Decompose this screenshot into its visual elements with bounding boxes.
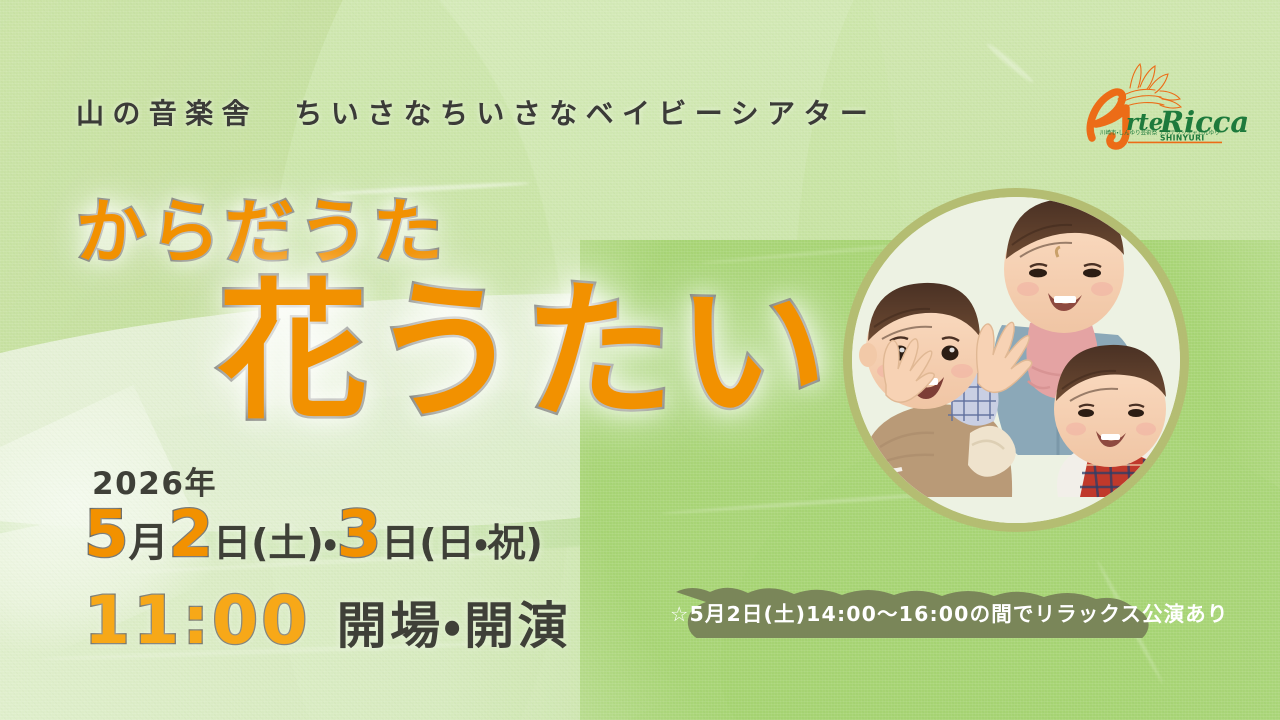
logo-tiny-caption: 川崎市・しんゆり芸術祭 アルテリッチャしんゆり (1100, 130, 1246, 137)
date-month-number: 5 (84, 498, 129, 572)
poster-root: 山の音楽舎 ちいさなちいさなベイビーシアター (0, 0, 1280, 720)
time-label: 開場・開演 (337, 597, 572, 655)
relax-performance-banner: ☆5月2日(土)14:00〜16:00の間でリラックス公演あり (646, 586, 1252, 638)
time-value: 11:00 (84, 582, 311, 659)
title-karadauta: からだうた (76, 176, 447, 277)
relax-performance-text: ☆5月2日(土)14:00〜16:00の間でリラックス公演あり (646, 586, 1252, 638)
date-day1-suffix: 日(土)・ (213, 521, 337, 565)
babies-photo (852, 197, 1180, 523)
poster-content: 山の音楽舎 ちいさなちいさなベイビーシアター (0, 0, 1280, 720)
date-day2-suffix: 日(日・祝) (381, 521, 543, 565)
arte-ricca-logo: rte Ricca SHINYURI 川崎市・しんゆり芸術祭 アルテリッチャしん… (1056, 58, 1224, 150)
date-day2-number: 3 (337, 498, 382, 572)
baby-right (1054, 345, 1171, 497)
year-label: 2026年 (92, 458, 217, 503)
date-day1-number: 2 (169, 498, 214, 572)
title-hanautai: 花うたい (218, 272, 830, 434)
photo-circle-frame (843, 188, 1189, 532)
babies-illustration (852, 197, 1180, 523)
time-line: 11:00開場・開演 (84, 582, 571, 659)
date-line: 5月2日(土)・3日(日・祝) (84, 498, 543, 572)
date-month-kanji: 月 (129, 520, 169, 566)
event-subtitle: 山の音楽舎 ちいさなちいさなベイビーシアター (76, 92, 876, 132)
